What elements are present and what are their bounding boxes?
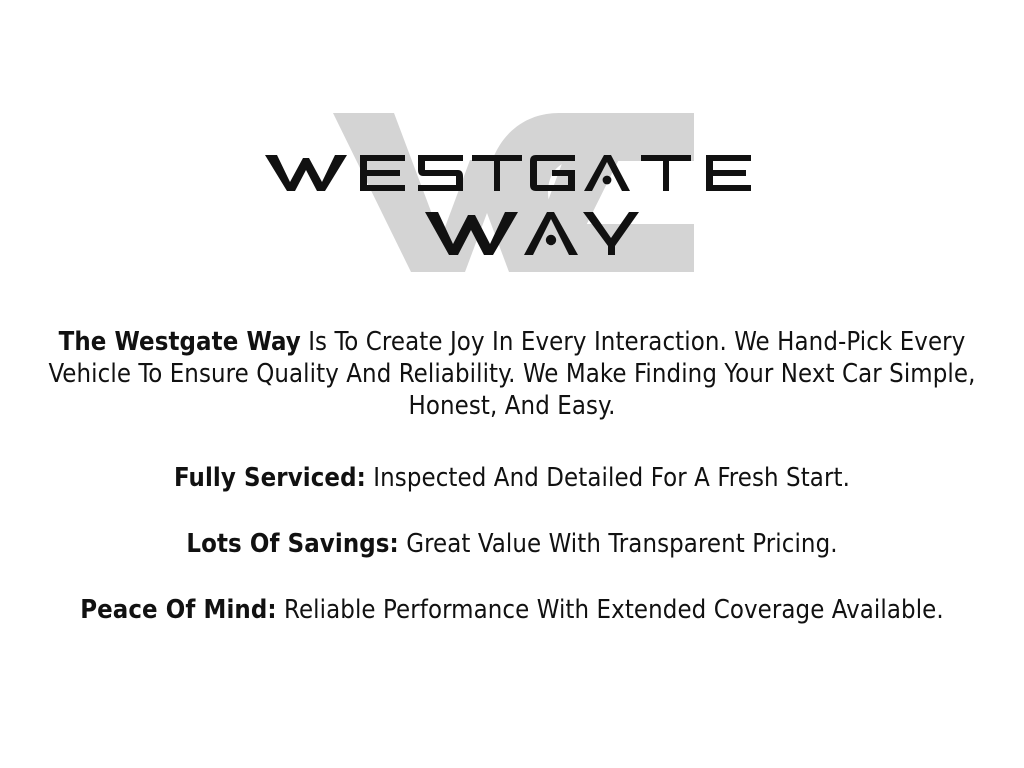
marketing-slide: The Westgate Way Is To Create Joy In Eve… xyxy=(0,0,1024,768)
body-copy: The Westgate Way Is To Create Joy In Eve… xyxy=(0,290,1024,768)
point-lead: Peace Of Mind: xyxy=(80,595,276,625)
intro-lead: The Westgate Way xyxy=(59,327,301,357)
logo-wordmark xyxy=(0,0,1024,290)
point-lead: Lots Of Savings: xyxy=(186,529,398,559)
point-lead: Fully Serviced: xyxy=(174,463,366,493)
point-lots-of-savings: Lots Of Savings: Great Value With Transp… xyxy=(47,528,977,560)
point-fully-serviced: Fully Serviced: Inspected And Detailed F… xyxy=(47,462,977,494)
point-body: Inspected And Detailed For A Fresh Start… xyxy=(366,463,850,493)
point-peace-of-mind: Peace Of Mind: Reliable Performance With… xyxy=(22,594,1002,626)
intro-paragraph: The Westgate Way Is To Create Joy In Eve… xyxy=(37,326,987,422)
point-body: Great Value With Transparent Pricing. xyxy=(399,529,838,559)
logo-block xyxy=(0,0,1024,290)
point-body: Reliable Performance With Extended Cover… xyxy=(277,595,944,625)
